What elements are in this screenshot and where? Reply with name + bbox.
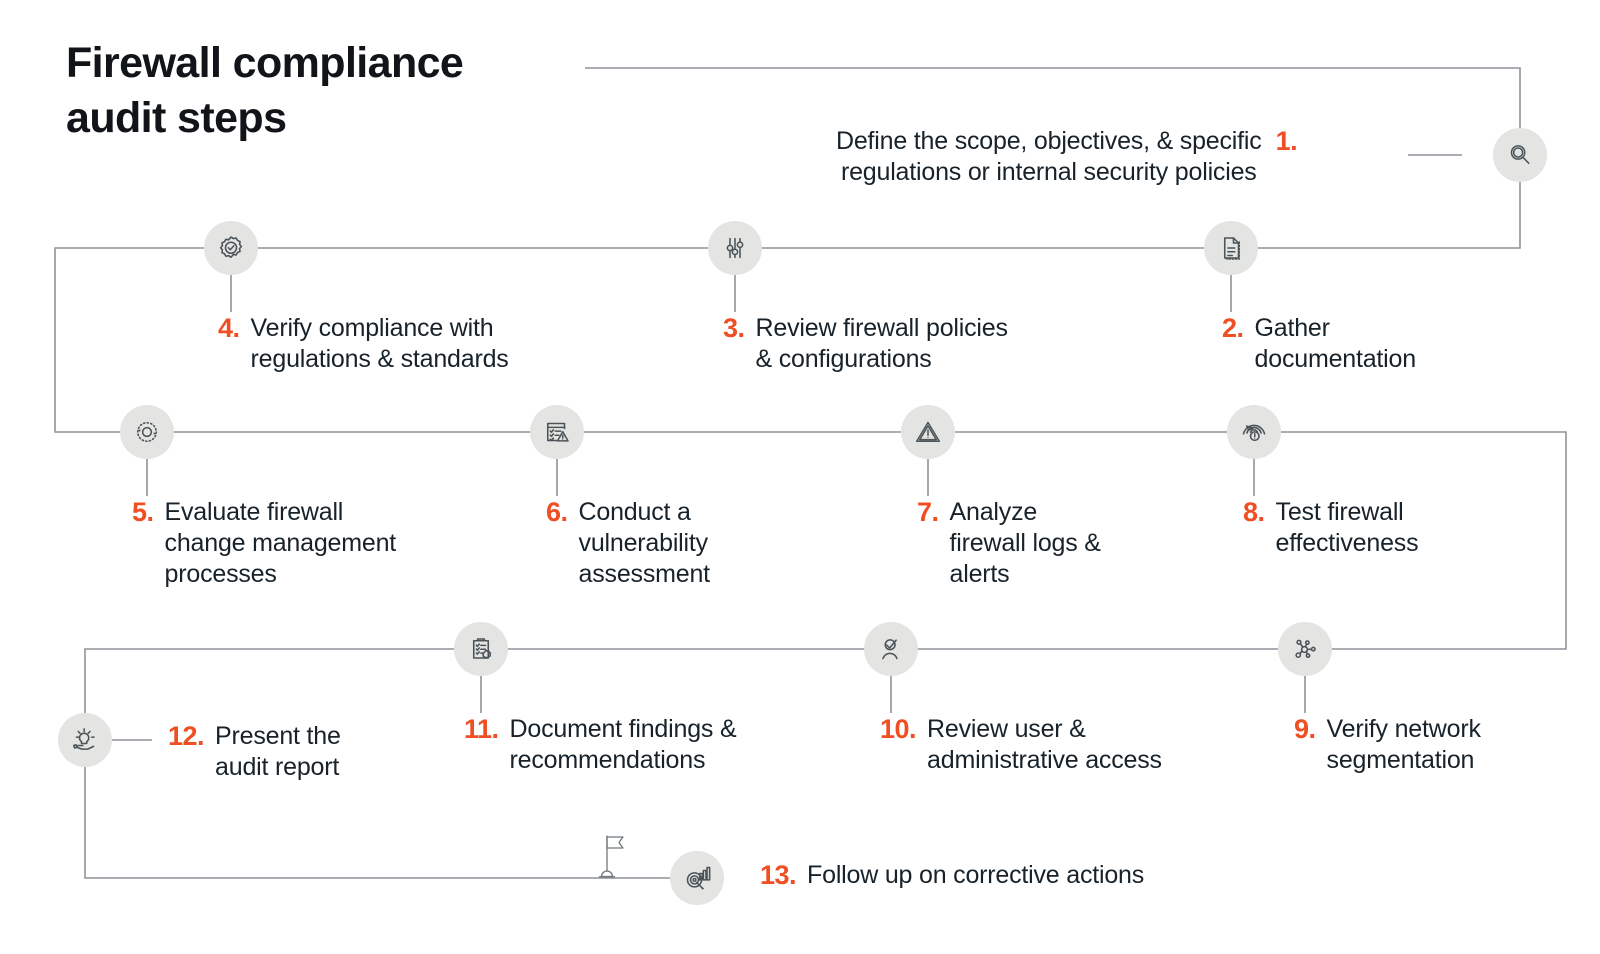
node-step-5[interactable] <box>120 405 174 459</box>
node-step-7[interactable] <box>901 405 955 459</box>
verified-badge-icon <box>216 233 246 263</box>
network-nodes-icon <box>1290 634 1320 664</box>
step-9-label: Verify network segmentation <box>1327 714 1481 776</box>
infographic-canvas: Firewall compliance audit steps <box>0 0 1600 954</box>
step-5: 5. Evaluate firewall change management p… <box>132 497 396 590</box>
node-step-10[interactable] <box>864 622 918 676</box>
step-1-label: Define the scope, objectives, & specific… <box>836 126 1262 188</box>
target-chart-icon <box>682 863 712 893</box>
step-9: 9. Verify network segmentation <box>1294 714 1481 776</box>
step-12-label: Present the audit report <box>215 721 341 783</box>
step-2-number: 2. <box>1222 313 1244 345</box>
step-5-label: Evaluate firewall change management proc… <box>165 497 397 590</box>
step-8-label: Test firewall effectiveness <box>1276 497 1419 559</box>
step-8: 8. Test firewall effectiveness <box>1243 497 1418 559</box>
step-6: 6. Conduct a vulnerability assessment <box>546 497 710 590</box>
node-step-12[interactable] <box>58 713 112 767</box>
node-step-6[interactable] <box>530 405 584 459</box>
step-11-number: 11. <box>464 714 499 746</box>
step-2-label: Gather documentation <box>1255 313 1416 375</box>
step-3: 3. Review firewall policies & configurat… <box>723 313 1008 375</box>
step-1: Define the scope, objectives, & specific… <box>836 126 1297 188</box>
step-11: 11. Document findings & recommendations <box>464 714 736 776</box>
magnifier-icon <box>1505 140 1535 170</box>
checklist-warning-icon <box>542 417 572 447</box>
node-step-1[interactable] <box>1493 128 1547 182</box>
step-4-label: Verify compliance with regulations & sta… <box>251 313 509 375</box>
step-12: 12. Present the audit report <box>168 721 341 783</box>
node-step-11[interactable] <box>454 622 508 676</box>
wire-step4-to-step5 <box>55 248 204 432</box>
gauge-icon <box>1239 417 1269 447</box>
step-13-label: Follow up on corrective actions <box>807 860 1144 891</box>
step-6-label: Conduct a vulnerability assessment <box>579 497 710 590</box>
step-13: 13. Follow up on corrective actions <box>760 860 1144 892</box>
step-10-number: 10. <box>880 714 916 746</box>
step-1-number: 1. <box>1276 126 1298 158</box>
node-step-2[interactable] <box>1204 221 1258 275</box>
step-9-number: 9. <box>1294 714 1316 746</box>
flag-icon <box>588 832 634 882</box>
node-step-3[interactable] <box>708 221 762 275</box>
node-step-4[interactable] <box>204 221 258 275</box>
wire-step12-to-step13 <box>85 767 670 878</box>
step-6-number: 6. <box>546 497 568 529</box>
step-12-number: 12. <box>168 721 204 753</box>
node-step-9[interactable] <box>1278 622 1332 676</box>
step-4: 4. Verify compliance with regulations & … <box>218 313 509 375</box>
step-2: 2. Gather documentation <box>1222 313 1416 375</box>
step-5-number: 5. <box>132 497 154 529</box>
step-7-number: 7. <box>917 497 939 529</box>
step-3-label: Review firewall policies & configuration… <box>756 313 1008 375</box>
step-10-label: Review user & administrative access <box>927 714 1162 776</box>
hand-lightbulb-icon <box>70 725 100 755</box>
step-13-number: 13. <box>760 860 796 892</box>
wire-step1-to-step2 <box>1258 182 1520 248</box>
step-11-label: Document findings & recommendations <box>510 714 737 776</box>
step-3-number: 3. <box>723 313 745 345</box>
page-title: Firewall compliance audit steps <box>66 36 586 145</box>
node-step-8[interactable] <box>1227 405 1281 459</box>
step-10: 10. Review user & administrative access <box>880 714 1162 776</box>
refresh-cycle-icon <box>132 417 162 447</box>
warning-triangle-icon <box>913 417 943 447</box>
wire-step11-to-step12 <box>85 649 454 728</box>
step-7: 7. Analyze firewall logs & alerts <box>917 497 1101 590</box>
node-step-13[interactable] <box>670 851 724 905</box>
wire-title-to-step1 <box>585 68 1520 128</box>
sliders-icon <box>720 233 750 263</box>
document-icon <box>1216 233 1246 263</box>
user-check-icon <box>876 634 906 664</box>
step-4-number: 4. <box>218 313 240 345</box>
step-8-number: 8. <box>1243 497 1265 529</box>
step-7-label: Analyze firewall logs & alerts <box>950 497 1101 590</box>
clipboard-seal-icon <box>466 634 496 664</box>
